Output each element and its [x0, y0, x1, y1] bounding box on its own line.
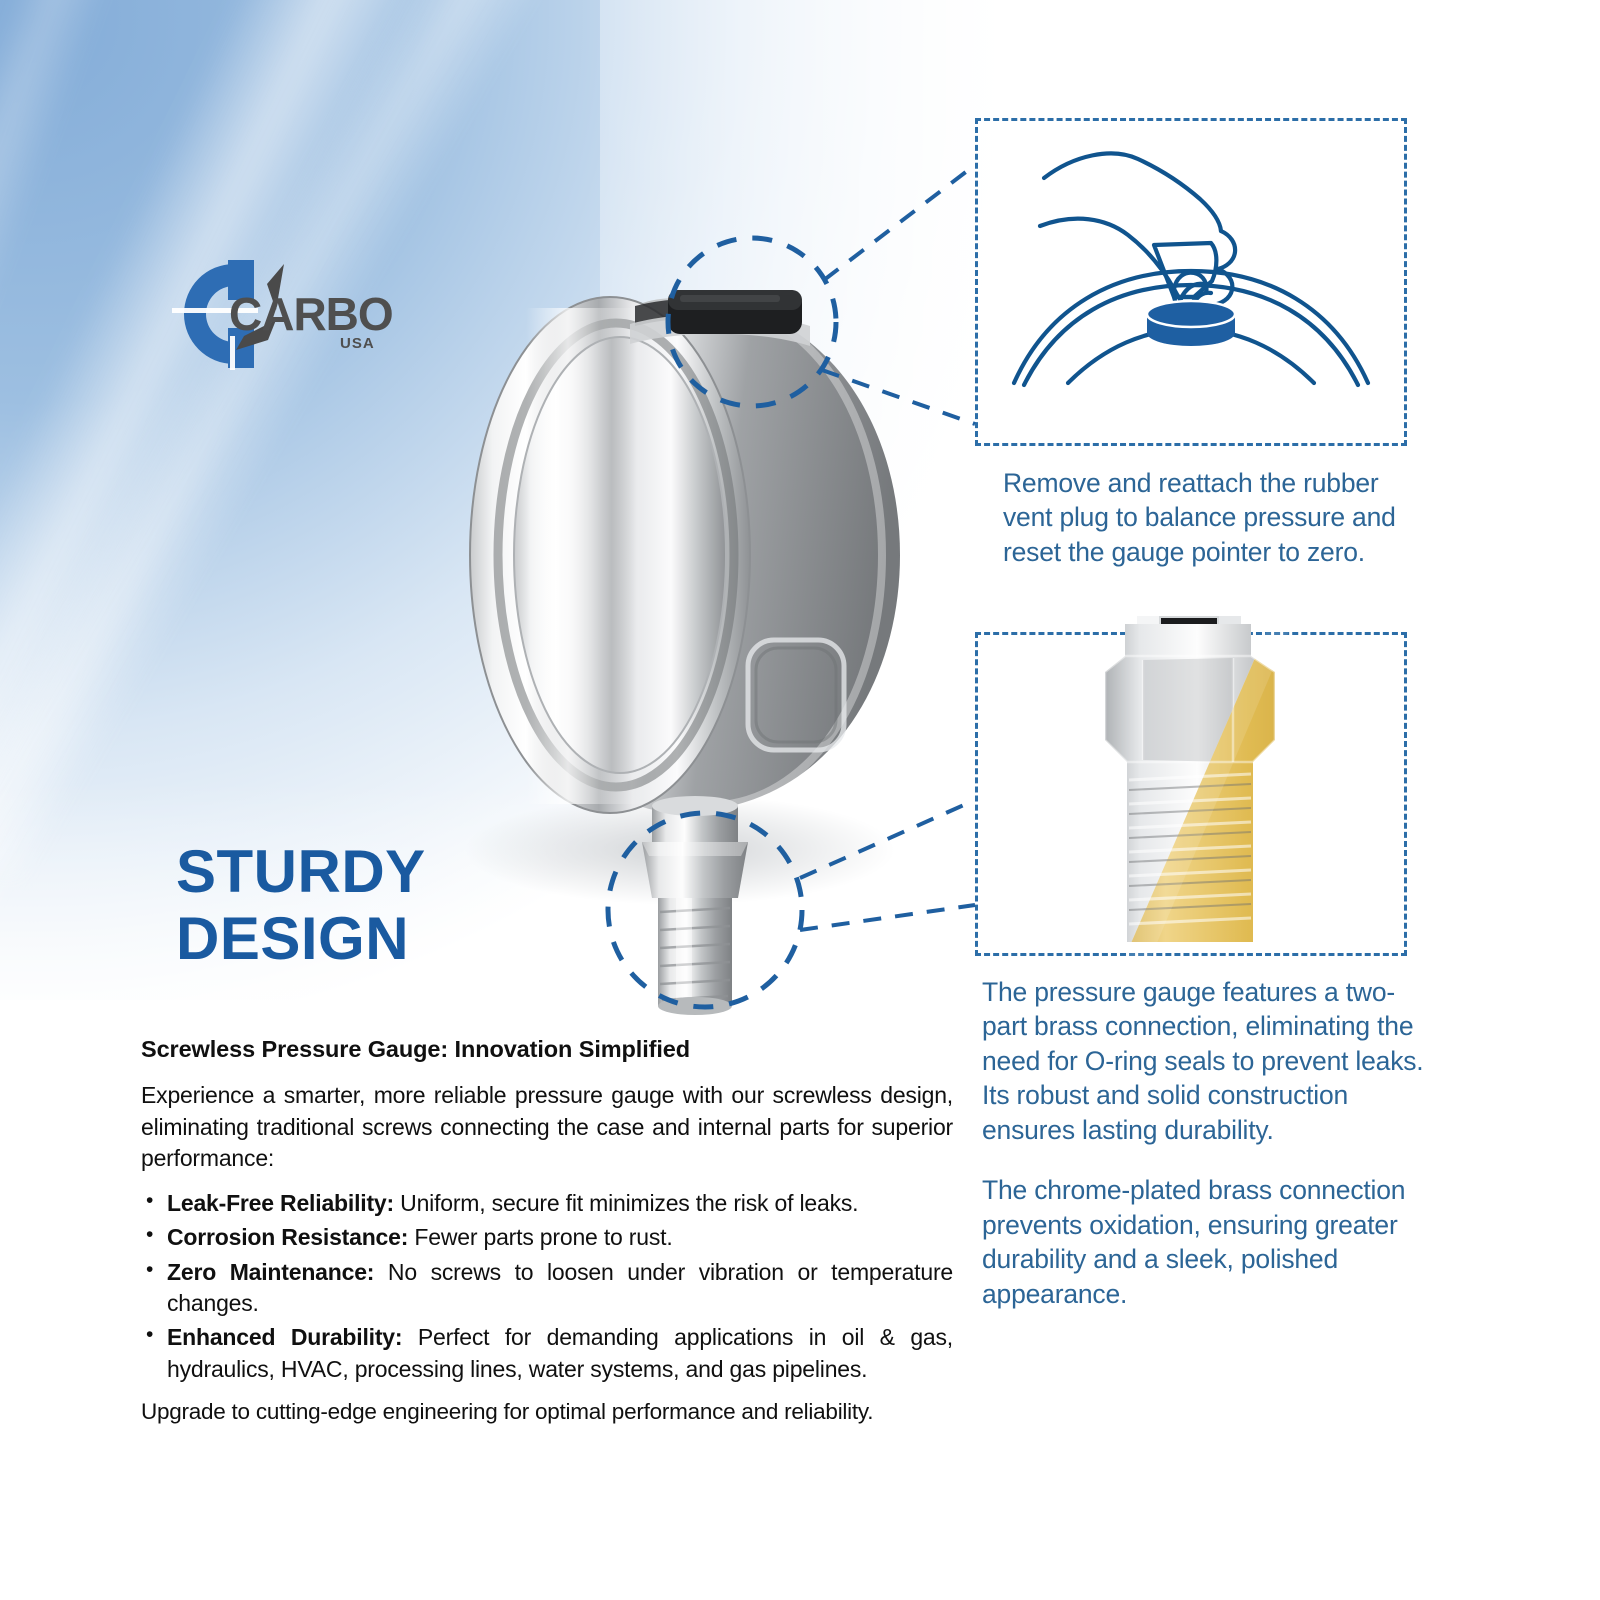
- list-item-title: Leak-Free Reliability:: [167, 1190, 394, 1216]
- callout-box-fitting: [975, 632, 1407, 956]
- callout-caption-fitting-2: Its robust and solid construction ensure…: [982, 1078, 1432, 1147]
- copy-intro: Experience a smarter, more reliable pres…: [141, 1080, 953, 1174]
- carbo-gauge-logo-icon: CARBO USA: [172, 258, 402, 370]
- gauge-illustration: [430, 250, 990, 1040]
- vent-plug-disc: [1147, 301, 1235, 346]
- list-item-text: Uniform, secure fit minimizes the risk o…: [394, 1190, 858, 1216]
- headline-line-2: DESIGN: [176, 905, 426, 972]
- list-item: • Leak-Free Reliability: Uniform, secure…: [141, 1188, 953, 1219]
- list-item-title: Enhanced Durability:: [167, 1324, 402, 1350]
- list-item: • Zero Maintenance: No screws to loosen …: [141, 1257, 953, 1320]
- list-item-text: Fewer parts prone to rust.: [408, 1224, 672, 1250]
- page-headline: STURDY DESIGN: [176, 838, 426, 972]
- bullet-icon: •: [146, 1256, 153, 1285]
- bullet-icon: •: [146, 1221, 153, 1250]
- list-item: • Enhanced Durability: Perfect for deman…: [141, 1322, 953, 1385]
- carbo-logo: CARBO USA: [172, 258, 402, 370]
- infographic-page: CARBO USA: [0, 0, 1600, 1600]
- bullet-icon: •: [146, 1187, 153, 1216]
- list-item-title: Zero Maintenance:: [167, 1259, 374, 1285]
- pressure-gauge-image: [430, 250, 990, 1040]
- copy-outro: Upgrade to cutting-edge engineering for …: [141, 1397, 953, 1428]
- hand-removing-vent-plug-icon: [978, 121, 1404, 443]
- headline-line-1: STURDY: [176, 838, 426, 905]
- callout-box-vent: [975, 118, 1407, 446]
- callout-caption-fitting: The pressure gauge features a two-part b…: [982, 975, 1432, 1311]
- black-rubber-vent-plug: [668, 290, 802, 334]
- callout-caption-fitting-3: The chrome-plated brass connection preve…: [982, 1173, 1432, 1311]
- copy-heading: Screwless Pressure Gauge: Innovation Sim…: [141, 1035, 953, 1064]
- feature-list: • Leak-Free Reliability: Uniform, secure…: [141, 1188, 953, 1385]
- svg-text:CARBO: CARBO: [229, 288, 393, 340]
- list-item: • Corrosion Resistance: Fewer parts pron…: [141, 1222, 953, 1253]
- callout-caption-vent-text: Remove and reattach the rubber vent plug…: [1003, 466, 1433, 569]
- bullet-icon: •: [146, 1321, 153, 1350]
- list-item-title: Corrosion Resistance:: [167, 1224, 408, 1250]
- svg-text:USA: USA: [340, 335, 375, 352]
- body-copy: Screwless Pressure Gauge: Innovation Sim…: [141, 1035, 953, 1427]
- chrome-threaded-hex-stem: [642, 796, 748, 1015]
- callout-caption-fitting-1: The pressure gauge features a two-part b…: [982, 975, 1432, 1078]
- callout-caption-vent: Remove and reattach the rubber vent plug…: [1003, 466, 1433, 569]
